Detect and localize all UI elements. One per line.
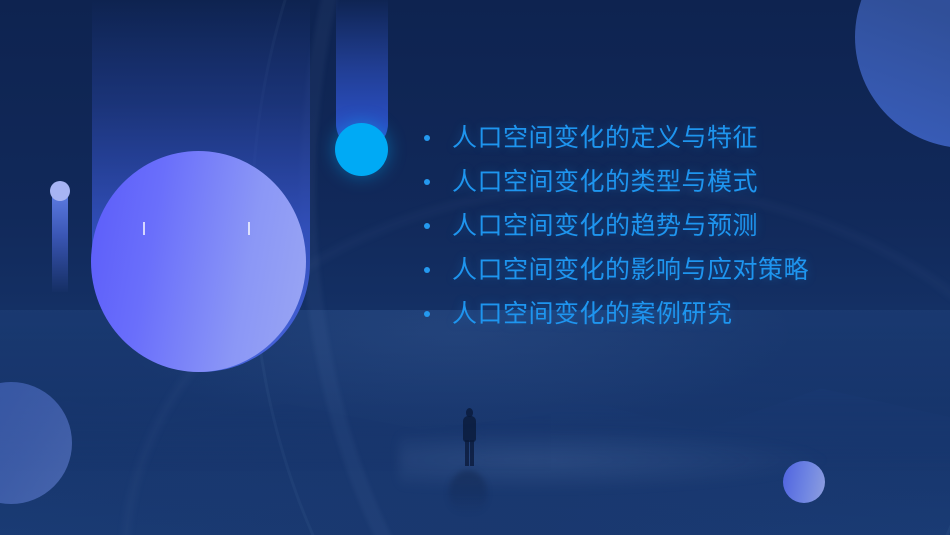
person-silhouette <box>455 408 483 476</box>
bullet-label: 人口空间变化的定义与特征 <box>452 123 758 153</box>
thin-gradient-bar <box>52 190 68 292</box>
hero-circle-tick-left <box>143 222 145 235</box>
hero-gradient-circle <box>91 151 306 372</box>
list-item: 人口空间变化的类型与模式 <box>424 160 894 204</box>
silhouette-reflection <box>449 470 487 514</box>
thin-bar-dot <box>50 181 70 201</box>
list-item: 人口空间变化的定义与特征 <box>424 116 894 160</box>
list-item: 人口空间变化的趋势与预测 <box>424 204 894 248</box>
agenda-bullet-list: 人口空间变化的定义与特征 人口空间变化的类型与模式 人口空间变化的趋势与预测 人… <box>424 116 894 336</box>
silhouette-leg-right <box>470 440 474 466</box>
presentation-slide: 人口空间变化的定义与特征 人口空间变化的类型与模式 人口空间变化的趋势与预测 人… <box>0 0 950 535</box>
silhouette-leg-left <box>465 440 469 466</box>
bullet-label: 人口空间变化的影响与应对策略 <box>452 255 809 285</box>
list-item: 人口空间变化的影响与应对策略 <box>424 248 894 292</box>
bullet-label: 人口空间变化的类型与模式 <box>452 167 758 197</box>
list-item: 人口空间变化的案例研究 <box>424 292 894 336</box>
bullet-dot-icon <box>424 135 430 141</box>
bullet-dot-icon <box>424 179 430 185</box>
bullet-dot-icon <box>424 311 430 317</box>
bullet-label: 人口空间变化的案例研究 <box>452 299 733 329</box>
silhouette-torso <box>463 416 476 442</box>
bottom-right-circle <box>783 461 825 503</box>
bullet-label: 人口空间变化的趋势与预测 <box>452 211 758 241</box>
cyan-accent-circle <box>335 123 388 176</box>
bullet-dot-icon <box>424 223 430 229</box>
bullet-dot-icon <box>424 267 430 273</box>
hero-circle-tick-right <box>248 222 250 235</box>
